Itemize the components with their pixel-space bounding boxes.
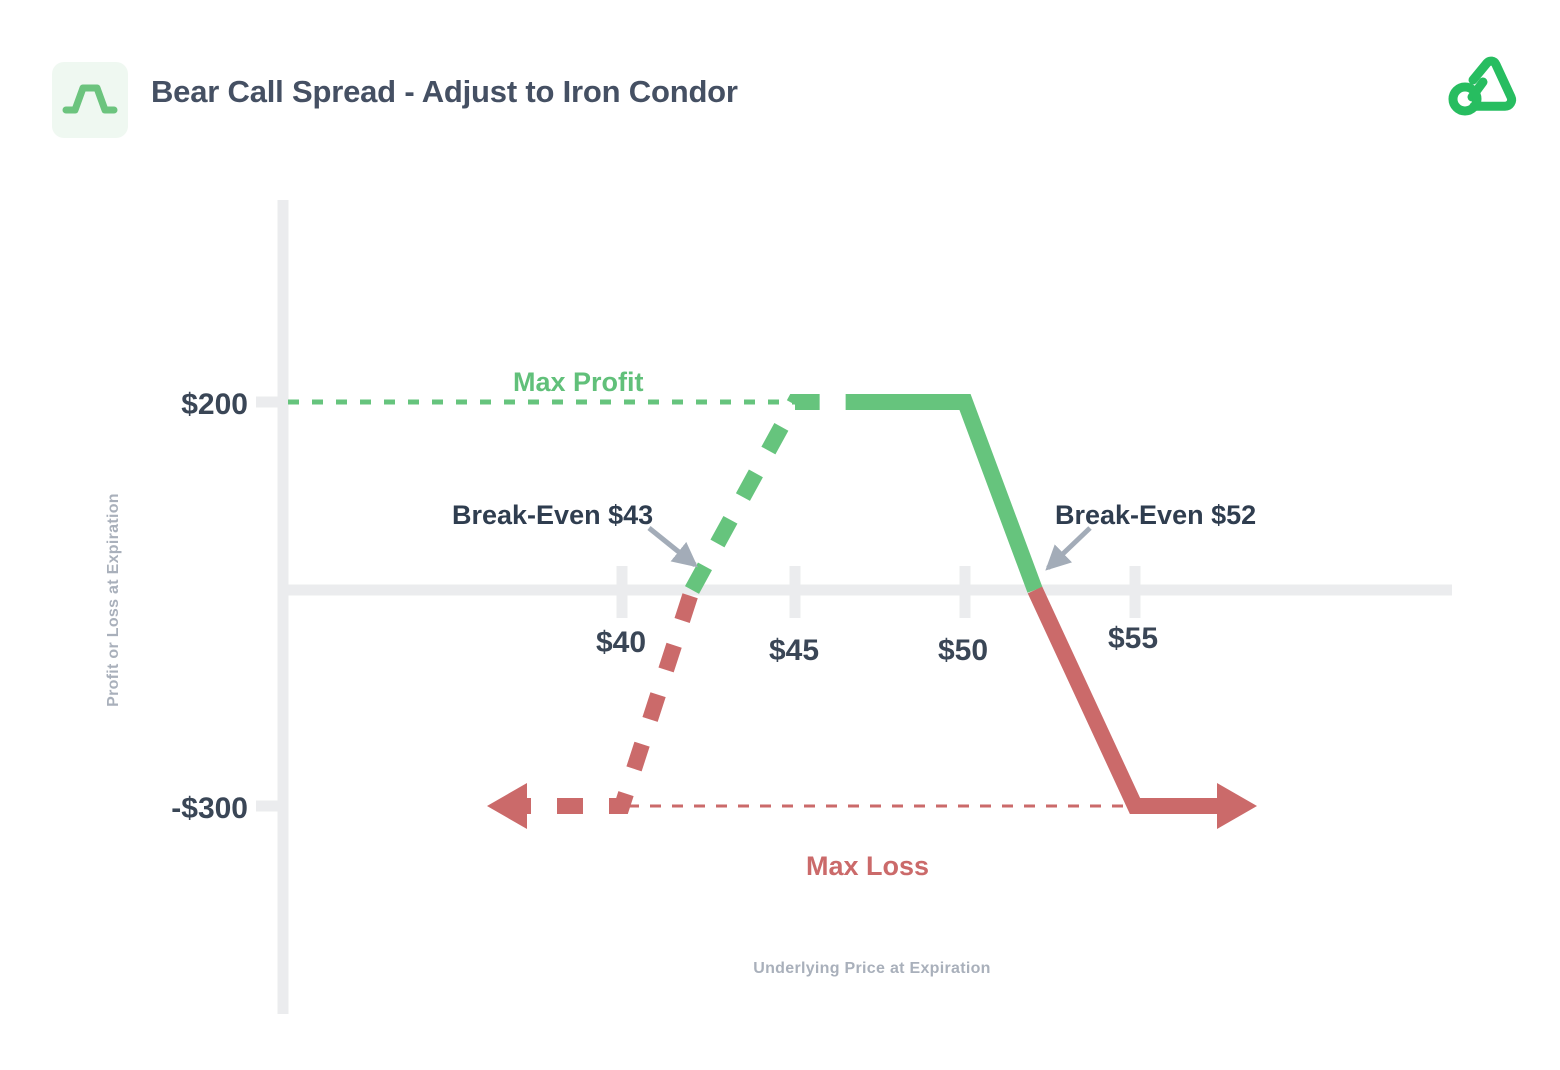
x-axis-title: Underlying Price at Expiration xyxy=(753,960,991,977)
x-tick-label-55: $55 xyxy=(1108,622,1158,655)
break-even-right-label: Break-Even $52 xyxy=(1055,500,1256,530)
payoff-curve xyxy=(487,402,1257,829)
payoff-right-arrowhead xyxy=(1217,783,1257,829)
payoff-segment-profit-rising-dashed xyxy=(692,402,872,590)
x-tick-label-40: $40 xyxy=(596,626,646,659)
chart-area: $200 -$300 $40 $45 $50 $55 Max Profit Ma… xyxy=(0,0,1560,1070)
payoff-segment-loss-left-dashed xyxy=(505,590,692,806)
payoff-segment-profit-solid xyxy=(866,402,1035,590)
axis-lines xyxy=(256,200,1452,1014)
y-tick-label-minus300: -$300 xyxy=(171,792,248,825)
max-loss-label: Max Loss xyxy=(806,851,929,881)
payoff-diagram-page: Bear Call Spread - Adjust to Iron Condor xyxy=(0,0,1560,1070)
break-even-right-arrow xyxy=(1048,528,1090,568)
y-axis-title: Profit or Loss at Expiration xyxy=(105,493,122,707)
y-tick-label-200: $200 xyxy=(181,388,248,421)
reference-lines xyxy=(288,402,1128,806)
break-even-left-label: Break-Even $43 xyxy=(452,500,653,530)
payoff-left-arrowhead xyxy=(487,783,527,829)
x-tick-label-50: $50 xyxy=(938,634,988,667)
x-tick-label-45: $45 xyxy=(769,634,819,667)
break-even-left-arrow xyxy=(649,528,695,565)
max-profit-label: Max Profit xyxy=(513,367,644,397)
